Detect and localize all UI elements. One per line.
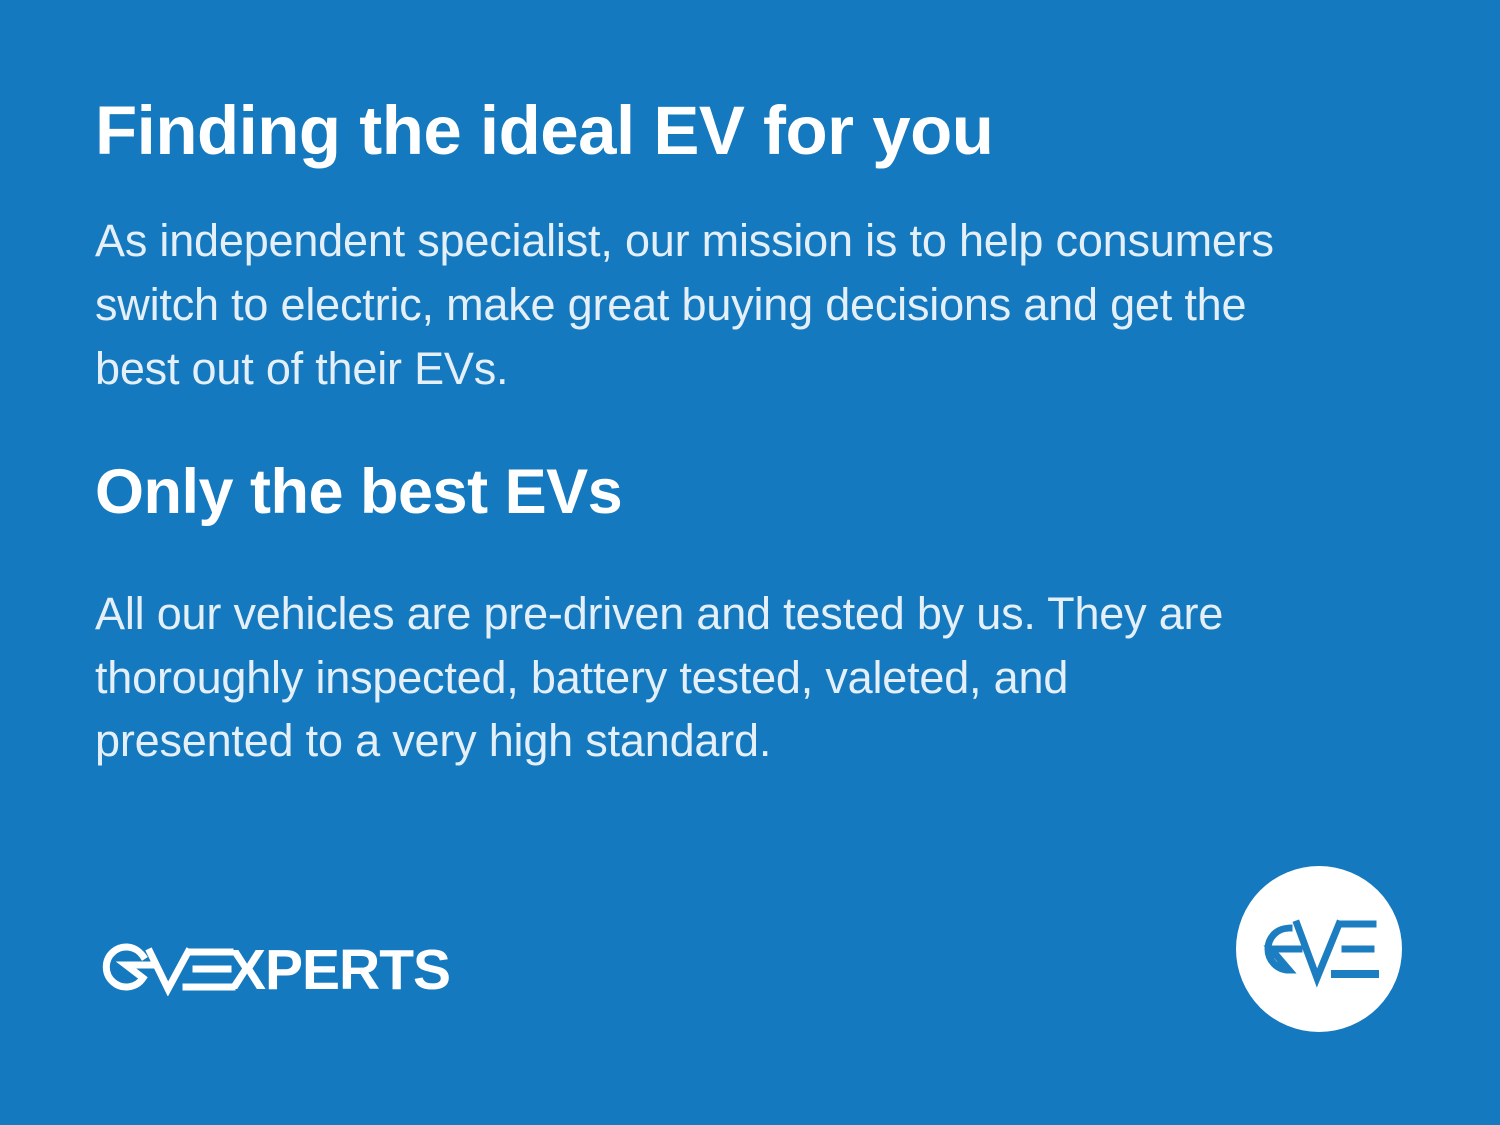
content-column: Finding the ideal EV for you As independ… (95, 96, 1275, 773)
section-heading-quality: Only the best EVs (95, 461, 1275, 524)
svg-text:XPERTS: XPERTS (228, 938, 450, 996)
intro-paragraph: As independent specialist, our mission i… (95, 209, 1275, 401)
spacer (95, 165, 1275, 209)
quality-paragraph: All our vehicles are pre-driven and test… (95, 582, 1275, 774)
slide-canvas: Finding the ideal EV for you As independ… (0, 0, 1500, 1125)
eve-monogram-icon (1259, 910, 1379, 988)
spacer (95, 401, 1275, 461)
brand-wordmark: XPERTS (98, 934, 473, 996)
page-title: Finding the ideal EV for you (95, 96, 1275, 165)
brand-badge (1236, 866, 1402, 1032)
evexperts-logo-icon: XPERTS (98, 934, 473, 996)
spacer (95, 524, 1275, 582)
